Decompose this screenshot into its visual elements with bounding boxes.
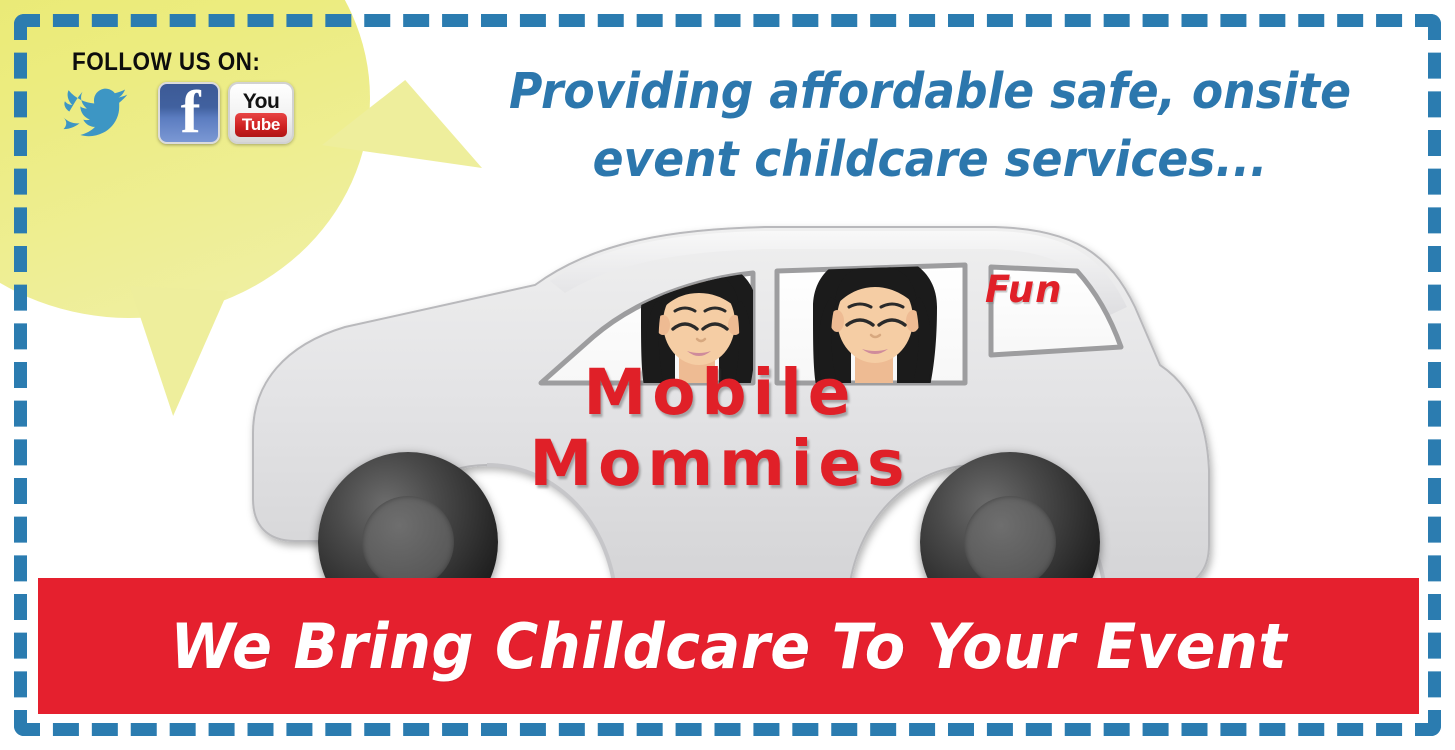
- social-icon-row: f You Tube: [62, 82, 294, 144]
- facebook-icon[interactable]: f: [158, 82, 220, 144]
- tagline-line-1: Providing affordable safe, onsite: [465, 58, 1395, 126]
- slogan-banner: We Bring Childcare To Your Event: [38, 578, 1419, 714]
- van-brand-line-2: Mommies: [500, 429, 940, 500]
- twitter-icon[interactable]: [62, 82, 150, 144]
- promotional-banner: FOLLOW US ON: f You Tube Providing affor…: [0, 0, 1455, 750]
- youtube-tube-text: Tube: [235, 113, 287, 137]
- slogan-text: We Bring Childcare To Your Event: [170, 610, 1287, 683]
- follow-us-label: FOLLOW US ON:: [72, 48, 260, 77]
- rear-window-fun-text: Fun: [985, 268, 1062, 311]
- youtube-icon[interactable]: You Tube: [228, 82, 294, 144]
- follow-us-block: FOLLOW US ON: f You Tube: [34, 30, 364, 205]
- youtube-you-text: You: [243, 91, 280, 112]
- wheel-hub: [964, 496, 1056, 588]
- tagline: Providing affordable safe, onsite event …: [465, 58, 1395, 193]
- tagline-line-2: event childcare services...: [465, 126, 1395, 194]
- wheel-hub: [362, 496, 454, 588]
- van-brand-text: Mobile Mommies: [500, 358, 940, 499]
- van-brand-line-1: Mobile: [500, 358, 940, 429]
- facebook-letter: f: [181, 82, 201, 142]
